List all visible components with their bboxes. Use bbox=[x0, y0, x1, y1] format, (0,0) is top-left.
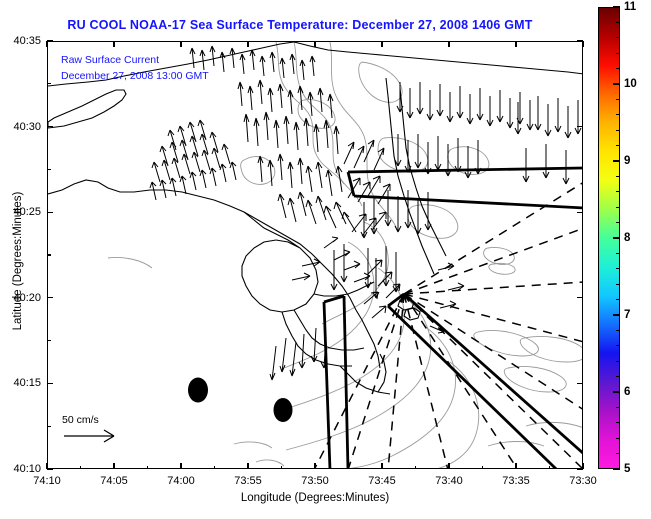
radar-beam-dashed-lines bbox=[314, 182, 583, 469]
x-tick bbox=[448, 463, 449, 469]
colorbar-tick-label: 7 bbox=[624, 309, 630, 321]
figure-canvas: RU COOL NOAA-17 Sea Surface Temperature:… bbox=[0, 0, 651, 519]
x-tick-label: 74:10 bbox=[33, 475, 61, 487]
x-tick-minor bbox=[147, 466, 148, 470]
colorbar-tick-label: 5 bbox=[624, 463, 630, 475]
x-tick bbox=[515, 463, 516, 469]
x-tick bbox=[113, 463, 114, 469]
colorbar-tick-minor bbox=[616, 284, 620, 285]
station-marker bbox=[274, 398, 293, 422]
y-tick-right bbox=[577, 40, 583, 41]
y-tick-label: 40:10 bbox=[1, 463, 41, 475]
x-tick-minor bbox=[549, 466, 550, 470]
x-tick-top bbox=[448, 41, 449, 47]
colorbar-tick-minor bbox=[616, 407, 620, 408]
x-tick-minor bbox=[348, 466, 349, 470]
y-tick-right bbox=[577, 212, 583, 213]
colorbar-tick bbox=[613, 391, 620, 392]
x-tick-minor bbox=[214, 466, 215, 470]
page-title: RU COOL NOAA-17 Sea Surface Temperature:… bbox=[0, 18, 600, 32]
radar-station-markers bbox=[188, 378, 293, 423]
colorbar-tick-minor bbox=[616, 207, 620, 208]
x-tick-label: 73:35 bbox=[502, 475, 530, 487]
colorbar-tick-label: 10 bbox=[624, 78, 637, 90]
colorbar-tick-minor bbox=[616, 130, 620, 131]
y-tick-label: 40:35 bbox=[1, 35, 41, 47]
y-tick-right bbox=[577, 126, 583, 127]
y-tick-label: 40:15 bbox=[1, 377, 41, 389]
colorbar-tick-minor bbox=[616, 361, 620, 362]
surface-current-vectors bbox=[150, 46, 581, 380]
y-tick-minor bbox=[47, 169, 51, 170]
y-tick bbox=[47, 40, 53, 41]
y-tick bbox=[47, 383, 53, 384]
colorbar-tick-minor bbox=[616, 330, 620, 331]
colorbar-tick-minor bbox=[616, 53, 620, 54]
x-tick bbox=[381, 463, 382, 469]
colorbar-tick-minor bbox=[616, 114, 620, 115]
y-tick-label: 40:30 bbox=[1, 121, 41, 133]
annotation-line-2: December 27, 2008 13:00 GMT bbox=[61, 70, 209, 82]
y-tick-minor bbox=[47, 83, 51, 84]
y-tick bbox=[47, 126, 53, 127]
y-tick-right bbox=[577, 383, 583, 384]
x-tick-label: 73:50 bbox=[301, 475, 329, 487]
y-tick-minor bbox=[47, 426, 51, 427]
colorbar-tick-minor bbox=[616, 268, 620, 269]
x-tick-top bbox=[180, 41, 181, 47]
x-tick-top bbox=[582, 41, 583, 47]
colorbar-tick-minor bbox=[616, 345, 620, 346]
colorbar-tick bbox=[613, 237, 620, 238]
x-tick-minor bbox=[281, 466, 282, 470]
colorbar-tick-minor bbox=[616, 37, 620, 38]
y-tick bbox=[47, 297, 53, 298]
colorbar-tick-minor bbox=[616, 145, 620, 146]
colorbar-tick-minor bbox=[616, 422, 620, 423]
colorbar-tick bbox=[613, 83, 620, 84]
x-tick-label: 73:45 bbox=[368, 475, 396, 487]
colorbar-tick-label: 8 bbox=[624, 232, 630, 244]
x-tick-top bbox=[247, 41, 248, 47]
annotation-line-1: Raw Surface Current bbox=[61, 54, 159, 66]
colorbar-tick-minor bbox=[616, 376, 620, 377]
colorbar-tick-label: 11 bbox=[624, 1, 636, 13]
map-graphics bbox=[48, 42, 583, 469]
x-tick-minor bbox=[482, 466, 483, 470]
colorbar-tick-minor bbox=[616, 453, 620, 454]
x-tick-minor bbox=[80, 466, 81, 470]
colorbar-tick bbox=[613, 6, 620, 7]
colorbar-tick-minor bbox=[616, 191, 620, 192]
x-tick bbox=[247, 463, 248, 469]
y-tick bbox=[47, 468, 53, 469]
colorbar-tick bbox=[613, 468, 620, 469]
x-tick-label: 74:00 bbox=[167, 475, 195, 487]
x-tick bbox=[180, 463, 181, 469]
scalebar-arrow-icon bbox=[64, 430, 114, 442]
colorbar-tick bbox=[613, 160, 620, 161]
x-tick-top bbox=[381, 41, 382, 47]
y-tick-minor bbox=[47, 254, 51, 255]
scalebar-label: 50 cm/s bbox=[62, 414, 99, 426]
station-marker bbox=[188, 378, 208, 403]
map-plot-area[interactable]: Raw Surface Current December 27, 2008 13… bbox=[47, 41, 583, 469]
colorbar-tick-minor bbox=[616, 438, 620, 439]
x-tick-top bbox=[113, 41, 114, 47]
x-tick-top bbox=[314, 41, 315, 47]
colorbar-tick-minor bbox=[616, 68, 620, 69]
y-tick-right bbox=[577, 297, 583, 298]
colorbar-tick-minor bbox=[616, 299, 620, 300]
x-tick-label: 73:40 bbox=[435, 475, 463, 487]
colorbar-tick-label: 9 bbox=[624, 155, 630, 167]
x-tick-label: 73:55 bbox=[234, 475, 262, 487]
x-tick-top bbox=[46, 41, 47, 47]
y-tick-minor bbox=[47, 340, 51, 341]
x-tick-top bbox=[515, 41, 516, 47]
colorbar-tick-minor bbox=[616, 253, 620, 254]
colorbar-tick bbox=[613, 314, 620, 315]
colorbar-tick-minor bbox=[616, 176, 620, 177]
x-tick-label: 74:05 bbox=[100, 475, 128, 487]
x-tick-minor bbox=[415, 466, 416, 470]
x-axis-title: Longitude (Degrees:Minutes) bbox=[47, 492, 583, 504]
y-tick-right bbox=[577, 468, 583, 469]
colorbar-tick-label: 6 bbox=[624, 386, 630, 398]
y-axis-title: Latitude (Degrees:Minutes) bbox=[12, 161, 24, 361]
x-tick bbox=[314, 463, 315, 469]
colorbar-tick-minor bbox=[616, 99, 620, 100]
x-tick-label: 73:30 bbox=[569, 475, 597, 487]
colorbar-tick-minor bbox=[616, 22, 620, 23]
y-tick bbox=[47, 212, 53, 213]
colorbar-tick-minor bbox=[616, 222, 620, 223]
